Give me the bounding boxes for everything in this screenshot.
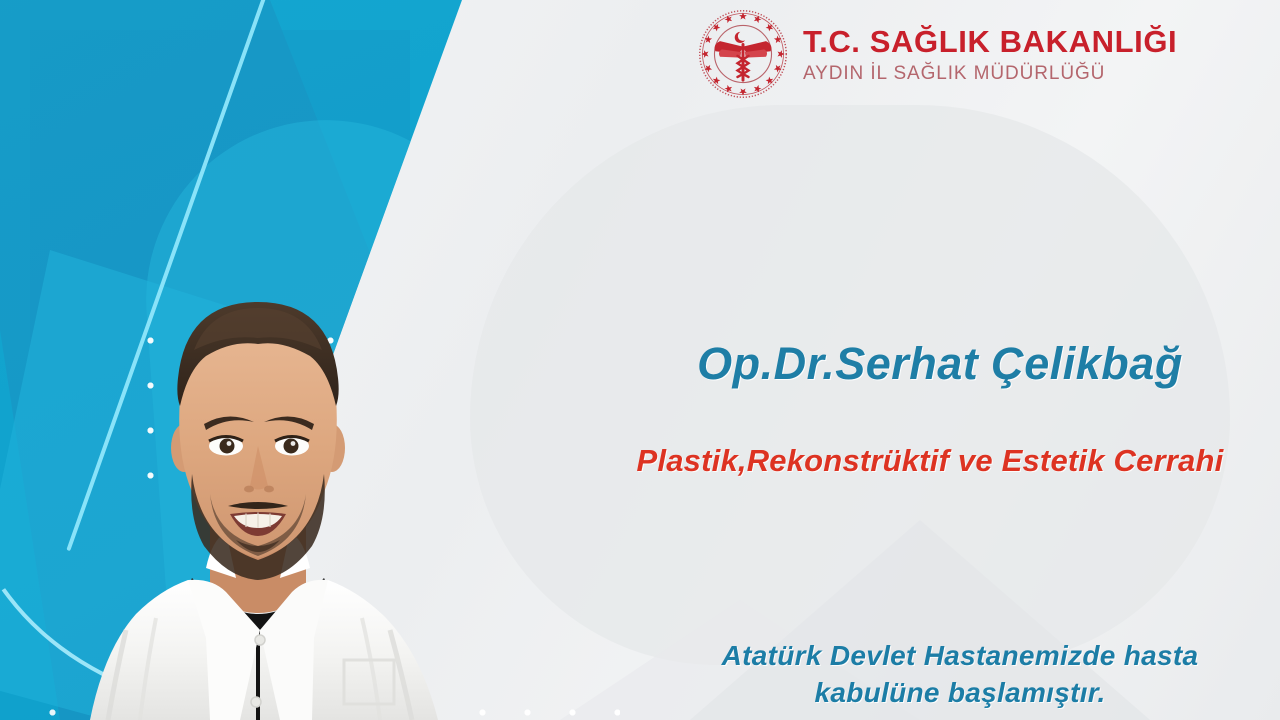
dot-row-bottom <box>460 690 620 720</box>
announcement-line-1: Atatürk Devlet Hastanemizde hasta <box>722 640 1199 671</box>
announcement-poster: T.C. SAĞLIK BAKANLIĞI AYDIN İL SAĞLIK MÜ… <box>0 0 1280 720</box>
announcement-line-2: kabulüne başlamıştır. <box>640 675 1280 712</box>
health-ministry-emblem-icon <box>697 8 789 100</box>
doctor-portrait <box>60 278 480 720</box>
ministry-title: T.C. SAĞLIK BAKANLIĞI <box>803 26 1177 57</box>
ministry-subtitle: AYDIN İL SAĞLIK MÜDÜRLÜĞÜ <box>803 64 1177 83</box>
doctor-specialty: Plastik,Rekonstrüktif ve Estetik Cerrahi <box>580 443 1280 479</box>
ministry-logo: T.C. SAĞLIK BAKANLIĞI AYDIN İL SAĞLIK MÜ… <box>697 8 1177 100</box>
announcement-text: Atatürk Devlet Hastanemizde hasta kabulü… <box>640 638 1280 712</box>
doctor-name: Op.Dr.Serhat Çelikbağ <box>600 338 1280 390</box>
